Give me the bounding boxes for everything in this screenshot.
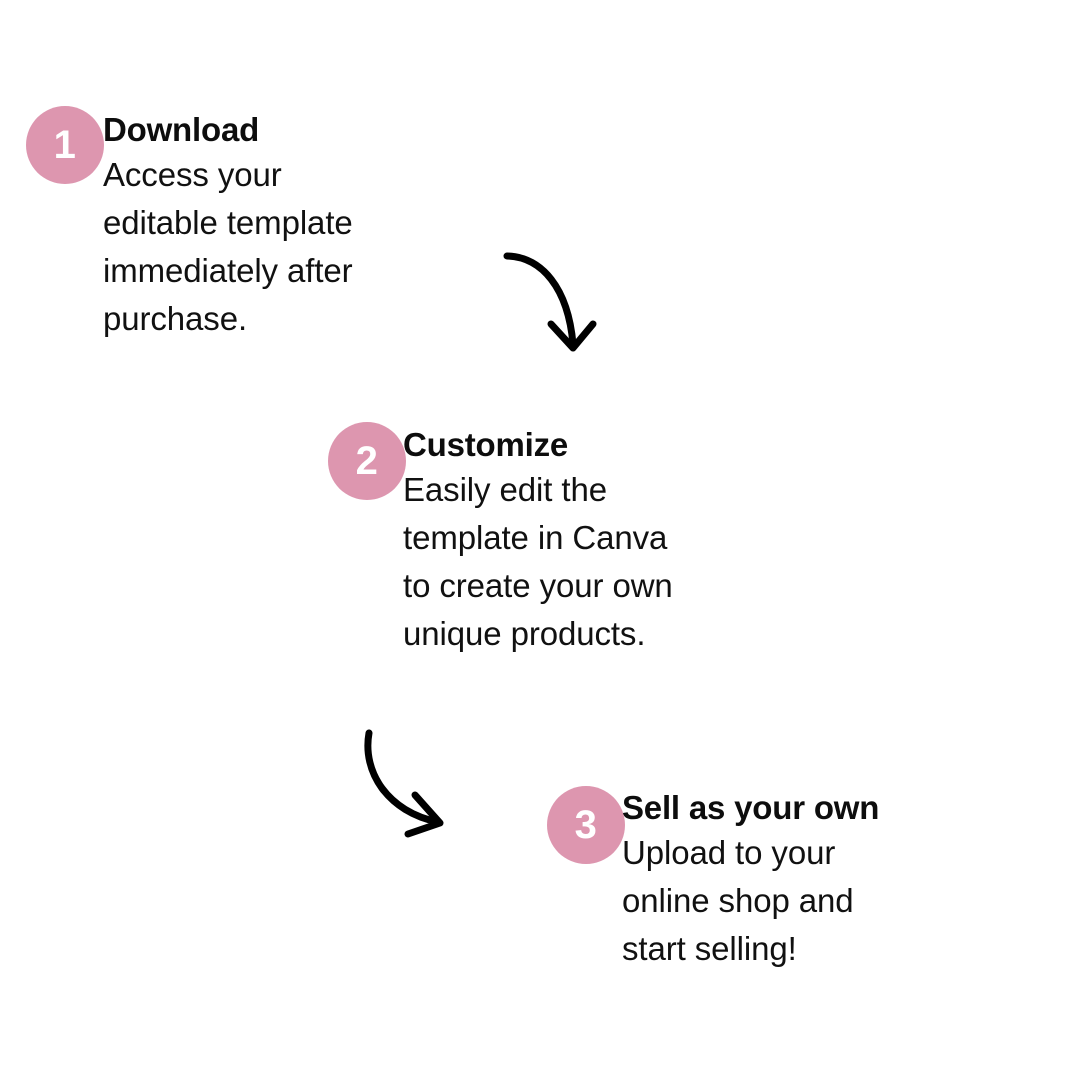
step-1-body-line-2: editable template xyxy=(103,199,503,247)
step-3-number: 3 xyxy=(575,805,598,845)
step-3-number-badge: 3 xyxy=(547,786,625,864)
step-1-body-line-3: immediately after xyxy=(103,247,503,295)
step-2-title: Customize xyxy=(403,424,803,466)
step-3-body-line-1: Upload to your xyxy=(622,829,1042,877)
step-2-body: Easily edit the template in Canva to cre… xyxy=(403,466,803,658)
step-2-body-line-1: Easily edit the xyxy=(403,466,803,514)
step-3-text-block: Sell as your own Upload to your online s… xyxy=(622,787,1042,973)
step-3-title: Sell as your own xyxy=(622,787,1042,829)
step-1-body-line-1: Access your xyxy=(103,151,503,199)
step-1-body: Access your editable template immediatel… xyxy=(103,151,503,343)
step-2-text-block: Customize Easily edit the template in Ca… xyxy=(403,424,803,658)
step-2-number: 2 xyxy=(356,441,379,481)
step-2-body-line-4: unique products. xyxy=(403,610,803,658)
curved-arrow-down-icon xyxy=(490,240,610,365)
step-1-number-badge: 1 xyxy=(26,106,104,184)
step-3-body-line-2: online shop and xyxy=(622,877,1042,925)
step-3-body: Upload to your online shop and start sel… xyxy=(622,829,1042,973)
step-3-body-line-3: start selling! xyxy=(622,925,1042,973)
step-1-body-line-4: purchase. xyxy=(103,295,503,343)
step-2-number-badge: 2 xyxy=(328,422,406,500)
step-2-body-line-2: template in Canva xyxy=(403,514,803,562)
curved-arrow-down-right-icon xyxy=(350,720,470,845)
step-1-number: 1 xyxy=(54,125,77,165)
infographic-canvas: 1 Download Access your editable template… xyxy=(0,0,1080,1080)
step-2-body-line-3: to create your own xyxy=(403,562,803,610)
step-1-title: Download xyxy=(103,109,503,151)
step-1-text-block: Download Access your editable template i… xyxy=(103,109,503,343)
